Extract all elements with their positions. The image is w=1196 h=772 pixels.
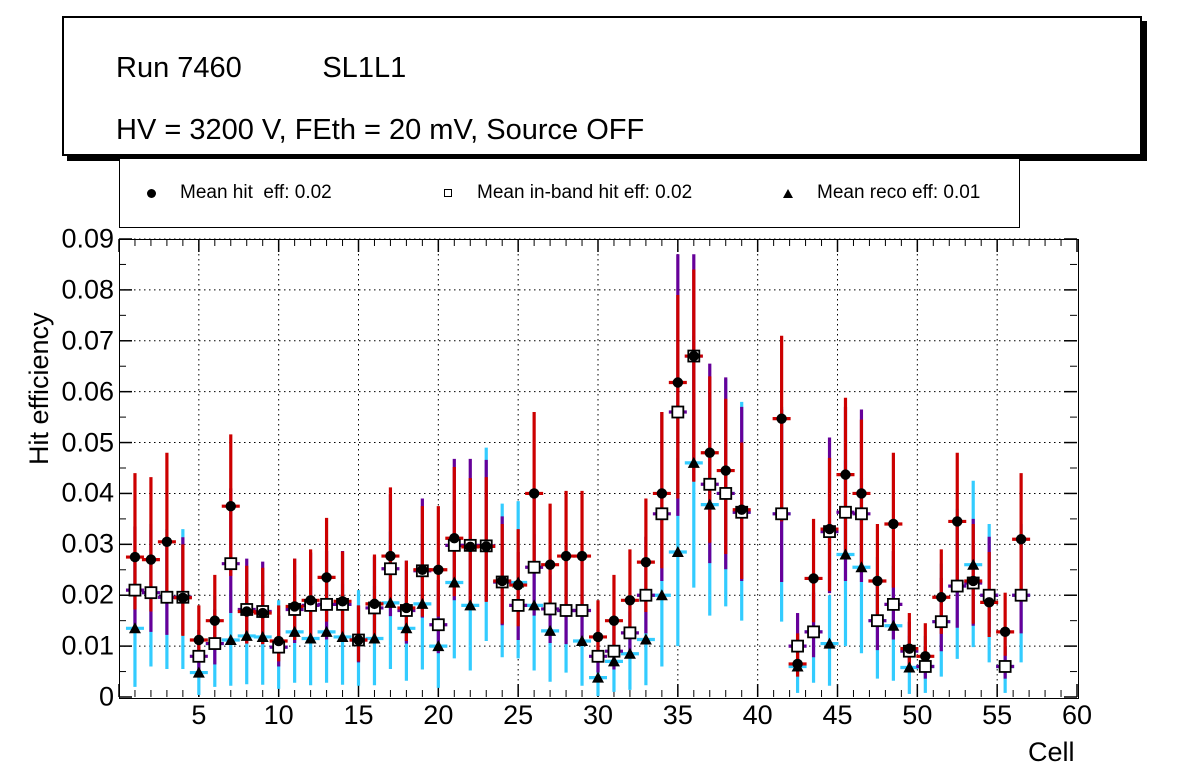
marker-circle-filled — [337, 596, 347, 606]
marker-square-open — [193, 651, 204, 662]
square-open-icon — [435, 189, 461, 197]
marker-circle-filled — [146, 554, 156, 564]
marker-square-open — [920, 661, 931, 672]
y-tick-label: 0.07 — [0, 325, 114, 356]
legend-entry-reco-eff: Mean reco eff: 0.01 — [775, 159, 980, 227]
marker-circle-filled — [162, 537, 172, 547]
marker-circle-filled — [904, 643, 914, 653]
x-tick-label: 60 — [1062, 700, 1092, 731]
marker-square-open — [776, 508, 787, 519]
marker-circle-filled — [529, 488, 539, 498]
marker-circle-filled — [353, 635, 363, 645]
marker-square-open — [209, 638, 220, 649]
marker-square-open — [513, 600, 524, 611]
marker-square-open — [888, 599, 899, 610]
circle-filled-icon — [138, 189, 164, 198]
legend-label-hit-eff: Mean hit eff: 0.02 — [180, 182, 332, 204]
y-tick-label: 0 — [0, 682, 114, 713]
marker-square-open — [856, 508, 867, 519]
marker-circle-filled — [273, 636, 283, 646]
marker-circle-filled — [465, 542, 475, 552]
y-tick-label: 0.09 — [0, 224, 114, 255]
marker-circle-filled — [872, 576, 882, 586]
marker-circle-filled — [936, 592, 946, 602]
marker-circle-filled — [984, 597, 994, 607]
y-tick-label: 0.05 — [0, 427, 114, 458]
title-line-run: Run 7460 SL1L1 — [116, 52, 406, 85]
marker-square-open — [672, 407, 683, 418]
marker-square-open — [145, 587, 156, 598]
marker-circle-filled — [824, 524, 834, 534]
marker-circle-filled — [321, 572, 331, 582]
marker-square-open — [225, 558, 236, 569]
legend-entry-inband-hit-eff: Mean in-band hit eff: 0.02 — [435, 159, 692, 227]
marker-circle-filled — [561, 551, 571, 561]
x-tick-label: 30 — [583, 700, 613, 731]
x-tick-label: 10 — [264, 700, 294, 731]
marker-square-open — [577, 605, 588, 616]
marker-circle-filled — [641, 557, 651, 567]
marker-square-open — [561, 605, 572, 616]
marker-circle-filled — [545, 559, 555, 569]
marker-circle-filled — [689, 351, 699, 361]
marker-square-open — [529, 562, 540, 573]
marker-square-open — [545, 603, 556, 614]
marker-circle-filled — [968, 576, 978, 586]
x-tick-label: 40 — [743, 700, 773, 731]
marker-square-open — [433, 619, 444, 630]
x-tick-label: 20 — [423, 700, 453, 731]
legend-label-reco-eff: Mean reco eff: 0.01 — [817, 182, 980, 204]
marker-square-open — [640, 590, 651, 601]
marker-circle-filled — [210, 615, 220, 625]
x-tick-label: 25 — [503, 700, 533, 731]
marker-circle-filled — [737, 505, 747, 515]
marker-square-open — [656, 508, 667, 519]
x-tick-label: 45 — [822, 700, 852, 731]
x-tick-label: 35 — [663, 700, 693, 731]
marker-circle-filled — [130, 552, 140, 562]
marker-circle-filled — [1000, 627, 1010, 637]
marker-square-open — [872, 615, 883, 626]
marker-square-open — [608, 646, 619, 657]
marker-circle-filled — [289, 601, 299, 611]
marker-circle-filled — [497, 576, 507, 586]
marker-square-open — [129, 585, 140, 596]
marker-circle-filled — [577, 551, 587, 561]
x-tick-label: 50 — [902, 700, 932, 731]
x-tick-label: 5 — [191, 700, 206, 731]
y-tick-label: 0.03 — [0, 529, 114, 560]
marker-square-open — [840, 507, 851, 518]
marker-square-open — [1016, 590, 1027, 601]
triangle-filled-icon — [775, 189, 801, 198]
marker-circle-filled — [1016, 534, 1026, 544]
plot-canvas — [119, 239, 1077, 697]
y-tick-label: 0.01 — [0, 631, 114, 662]
title-box: Run 7460 SL1L1 HV = 3200 V, FEth = 20 mV… — [62, 16, 1142, 156]
marker-circle-filled — [178, 593, 188, 603]
marker-circle-filled — [305, 595, 315, 605]
y-tick-label: 0.06 — [0, 376, 114, 407]
marker-square-open — [1000, 661, 1011, 672]
marker-circle-filled — [226, 501, 236, 511]
marker-circle-filled — [385, 551, 395, 561]
marker-square-open — [952, 581, 963, 592]
marker-circle-filled — [888, 519, 898, 529]
marker-circle-filled — [481, 541, 491, 551]
marker-circle-filled — [705, 448, 715, 458]
marker-circle-filled — [792, 659, 802, 669]
marker-circle-filled — [513, 580, 523, 590]
marker-circle-filled — [258, 608, 268, 618]
marker-circle-filled — [657, 488, 667, 498]
marker-circle-filled — [242, 606, 252, 616]
marker-circle-filled — [433, 565, 443, 575]
marker-circle-filled — [369, 599, 379, 609]
marker-circle-filled — [673, 377, 683, 387]
marker-circle-filled — [194, 635, 204, 645]
marker-circle-filled — [593, 632, 603, 642]
marker-circle-filled — [625, 595, 635, 605]
y-tick-label: 0.04 — [0, 478, 114, 509]
marker-circle-filled — [449, 533, 459, 543]
legend-label-inband-hit-eff: Mean in-band hit eff: 0.02 — [477, 182, 692, 204]
legend-entry-hit-eff: Mean hit eff: 0.02 — [138, 159, 332, 227]
marker-circle-filled — [808, 573, 818, 583]
marker-circle-filled — [920, 651, 930, 661]
title-line-conditions: HV = 3200 V, FEth = 20 mV, Source OFF — [116, 114, 644, 147]
marker-square-open — [385, 563, 396, 574]
marker-square-open — [936, 616, 947, 627]
marker-square-open — [624, 627, 635, 638]
marker-square-open — [792, 641, 803, 652]
marker-circle-filled — [952, 516, 962, 526]
marker-circle-filled — [721, 465, 731, 475]
chart-page: Run 7460 SL1L1 HV = 3200 V, FEth = 20 mV… — [0, 0, 1196, 772]
marker-circle-filled — [840, 469, 850, 479]
marker-square-open — [808, 626, 819, 637]
marker-square-open — [321, 599, 332, 610]
x-tick-label: 55 — [982, 700, 1012, 731]
marker-circle-filled — [856, 488, 866, 498]
x-axis-title: Cell — [1028, 737, 1075, 768]
marker-circle-filled — [609, 615, 619, 625]
marker-circle-filled — [417, 565, 427, 575]
marker-square-open — [704, 479, 715, 490]
x-tick-label: 15 — [343, 700, 373, 731]
legend-box: Mean hit eff: 0.02 Mean in-band hit eff:… — [119, 158, 1020, 228]
marker-circle-filled — [401, 603, 411, 613]
marker-square-open — [720, 488, 731, 499]
y-tick-label: 0.08 — [0, 274, 114, 305]
y-tick-label: 0.02 — [0, 580, 114, 611]
marker-circle-filled — [776, 413, 786, 423]
marker-square-open — [593, 651, 604, 662]
marker-square-open — [161, 592, 172, 603]
